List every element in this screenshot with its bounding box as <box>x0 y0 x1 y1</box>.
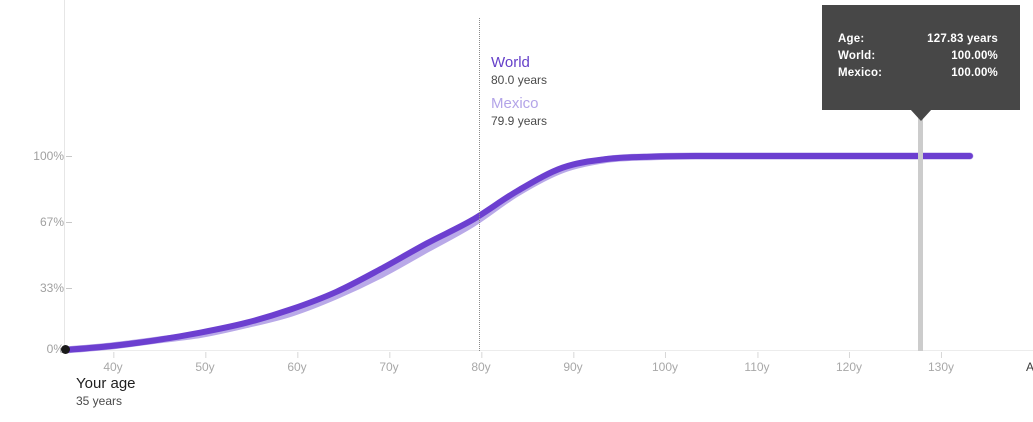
tooltip-mexico-value: 100.00% <box>951 65 998 82</box>
x-tick-40y: 40y <box>103 352 122 374</box>
tooltip-row-age: Age: 127.83 years <box>838 31 998 48</box>
hover-indicator-line <box>918 110 923 351</box>
x-tick-110y: 110y <box>744 352 769 374</box>
x-tick-70y: 70y <box>379 352 398 374</box>
hover-tooltip: Age: 127.83 years World: 100.00% Mexico:… <box>822 5 1020 110</box>
tooltip-row-mexico: Mexico: 100.00% <box>838 65 998 82</box>
marker-label-mexico-name: Mexico <box>491 95 547 113</box>
tooltip-world-value: 100.00% <box>951 48 998 65</box>
series-mexico <box>65 156 970 350</box>
age-marker-labels: World 80.0 years Mexico 79.9 years <box>491 54 547 136</box>
y-tick-100: 100% <box>6 149 64 163</box>
your-age-title: Your age <box>76 374 136 393</box>
tooltip-world-key: World: <box>838 48 875 65</box>
y-tick-67: 67% <box>6 215 64 229</box>
x-tick-90y: 90y <box>563 352 582 374</box>
series-world <box>65 156 970 350</box>
tooltip-row-world: World: 100.00% <box>838 48 998 65</box>
your-age-dot <box>61 345 70 354</box>
y-axis-ticks: 100% 67% 33% 0% <box>0 0 64 351</box>
x-tick-130y: 130y <box>928 352 954 374</box>
your-age-value: 35 years <box>76 393 136 409</box>
x-axis-line <box>64 350 1033 351</box>
x-tick-120y: 120y <box>836 352 862 374</box>
x-tick-60y: 60y <box>287 352 306 374</box>
y-tick-0: 0% <box>6 342 64 356</box>
marker-label-mexico-value: 79.9 years <box>491 113 547 130</box>
tooltip-mexico-key: Mexico: <box>838 65 882 82</box>
x-tick-50y: 50y <box>195 352 214 374</box>
your-age-annotation: Your age 35 years <box>76 374 136 409</box>
marker-label-world-name: World <box>491 54 547 72</box>
tooltip-age-key: Age: <box>838 31 864 48</box>
tooltip-age-value: 127.83 years <box>927 31 998 48</box>
x-tick-100y: 100y <box>652 352 678 374</box>
marker-label-world-value: 80.0 years <box>491 72 547 89</box>
y-axis-line <box>64 0 65 351</box>
y-tick-33: 33% <box>6 281 64 295</box>
survival-curve-chart: Cumulative Chances of 100% 67% 33% 0% 40… <box>0 0 1033 422</box>
x-tick-80y: 80y <box>471 352 490 374</box>
tooltip-arrow-icon <box>910 109 932 121</box>
x-axis-title: A <box>1026 352 1033 374</box>
age-marker-line-80y <box>479 18 480 351</box>
